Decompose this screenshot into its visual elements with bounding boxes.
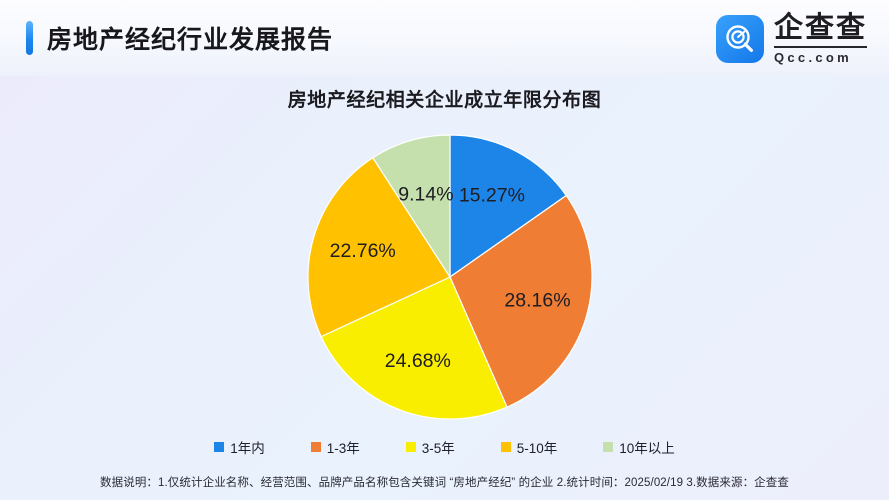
legend-item[interactable]: 3-5年 bbox=[406, 437, 455, 457]
legend-label: 1年内 bbox=[230, 437, 265, 457]
pie-slice-value-label: 22.76% bbox=[330, 240, 396, 262]
pie-slice-value-label: 9.14% bbox=[398, 183, 453, 205]
qcc-magnifier-logo-icon bbox=[716, 15, 764, 63]
brand-name-cn: 企查查 bbox=[774, 14, 867, 43]
pie-chart-svg: 15.27%28.16%24.68%22.76%9.14% bbox=[307, 134, 593, 420]
title-accent-bar bbox=[26, 21, 33, 55]
legend-swatch-icon bbox=[501, 442, 511, 452]
page-header: 房地产经纪行业发展报告 企查查 Qcc.com bbox=[0, 0, 889, 76]
chart-legend: 1年内1-3年3-5年5-10年10年以上 bbox=[0, 437, 889, 457]
legend-item[interactable]: 1-3年 bbox=[311, 437, 360, 457]
pie-slice-value-label: 28.16% bbox=[504, 290, 570, 312]
brand-logo: 企查查 Qcc.com bbox=[716, 14, 867, 64]
chart-title: 房地产经纪相关企业成立年限分布图 bbox=[0, 85, 889, 112]
page-title: 房地产经纪行业发展报告 bbox=[47, 20, 333, 56]
brand-wordmark: 企查查 Qcc.com bbox=[774, 14, 867, 64]
pie-chart: 15.27%28.16%24.68%22.76%9.14% bbox=[307, 134, 593, 420]
legend-label: 1-3年 bbox=[327, 437, 360, 457]
legend-item[interactable]: 5-10年 bbox=[501, 437, 558, 457]
legend-item[interactable]: 10年以上 bbox=[603, 437, 675, 457]
legend-label: 10年以上 bbox=[619, 437, 675, 457]
legend-swatch-icon bbox=[603, 442, 613, 452]
pie-slice-value-label: 15.27% bbox=[459, 185, 525, 207]
footnote: 数据说明：1.仅统计企业名称、经营范围、品牌产品名称包含关键词 “房地产经纪” … bbox=[0, 474, 889, 490]
legend-item[interactable]: 1年内 bbox=[214, 437, 265, 457]
pie-slices bbox=[308, 135, 592, 419]
legend-label: 5-10年 bbox=[517, 437, 558, 457]
legend-swatch-icon bbox=[214, 442, 224, 452]
brand-name-en: Qcc.com bbox=[774, 46, 867, 64]
pie-slice-value-label: 24.68% bbox=[385, 350, 451, 372]
legend-swatch-icon bbox=[311, 442, 321, 452]
legend-swatch-icon bbox=[406, 442, 416, 452]
legend-label: 3-5年 bbox=[422, 437, 455, 457]
